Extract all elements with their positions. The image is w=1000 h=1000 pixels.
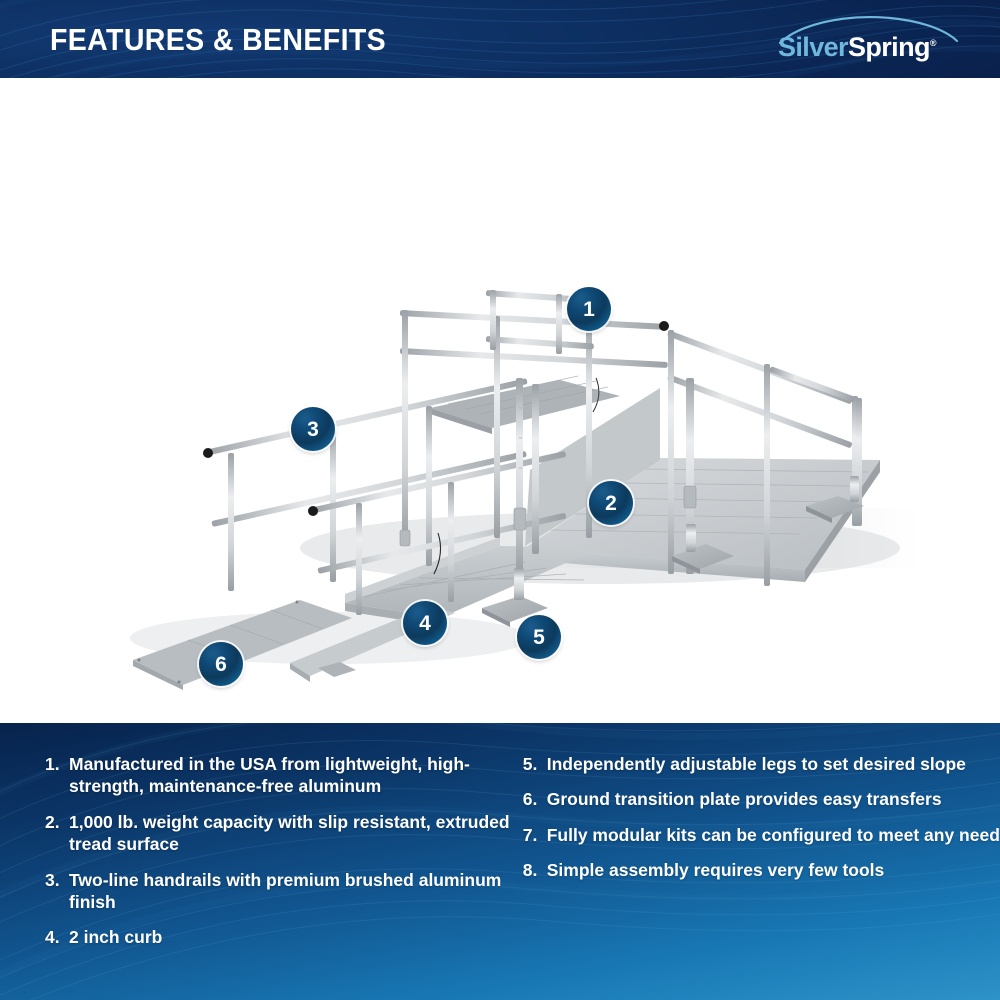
callout-badge-4-label: 4 (419, 613, 431, 634)
page-title: FEATURES & BENEFITS (50, 22, 386, 58)
feature-item-8-text: Simple assembly requires very few tools (547, 859, 1000, 881)
feature-item-8-number: 8. (523, 859, 547, 881)
features-columns: 1. Manufactured in the USA from lightwei… (0, 723, 1000, 1000)
feature-item-7-text: Fully modular kits can be configured to … (547, 824, 1000, 846)
feature-item-7-number: 7. (523, 824, 547, 846)
feature-item-3-number: 3. (45, 869, 69, 914)
callout-badge-2[interactable]: 2 (589, 481, 633, 525)
feature-item-1: 1. Manufactured in the USA from lightwei… (45, 753, 513, 798)
features-column-left: 1. Manufactured in the USA from lightwei… (0, 723, 513, 1000)
feature-item-3: 3. Two-line handrails with premium brush… (45, 869, 513, 914)
callout-badge-2-label: 2 (605, 493, 617, 514)
feature-item-5-text: Independently adjustable legs to set des… (547, 753, 1000, 775)
feature-item-1-text: Manufactured in the USA from lightweight… (69, 753, 513, 798)
feature-item-3-text: Two-line handrails with premium brushed … (69, 869, 513, 914)
callout-badge-5-label: 5 (533, 627, 545, 648)
callout-badge-6[interactable]: 6 (199, 642, 243, 686)
feature-item-4-text: 2 inch curb (69, 926, 513, 948)
callout-badge-5[interactable]: 5 (517, 615, 561, 659)
callout-badge-4[interactable]: 4 (403, 601, 447, 645)
features-panel: 1. Manufactured in the USA from lightwei… (0, 723, 1000, 1000)
features-benefits-infographic: FEATURES & BENEFITS SilverSpring® (0, 0, 1000, 1000)
feature-item-8: 8. Simple assembly requires very few too… (523, 859, 1000, 881)
feature-item-6-number: 6. (523, 788, 547, 810)
feature-item-6-text: Ground transition plate provides easy tr… (547, 788, 1000, 810)
feature-item-4: 4. 2 inch curb (45, 926, 513, 948)
feature-item-7: 7. Fully modular kits can be configured … (523, 824, 1000, 846)
callout-badge-6-label: 6 (215, 654, 227, 675)
logo-registered-mark: ® (930, 38, 936, 48)
feature-item-2-number: 2. (45, 811, 69, 856)
callout-badge-3-label: 3 (307, 419, 319, 440)
features-column-right: 5. Independently adjustable legs to set … (513, 723, 1000, 1000)
logo-text-silver: Silver (778, 32, 848, 62)
callout-badge-1[interactable]: 1 (567, 287, 611, 331)
logo-text-spring: Spring (848, 32, 930, 62)
logo-wordmark: SilverSpring® (778, 32, 936, 63)
callout-badge-1-label: 1 (583, 299, 595, 320)
feature-item-2: 2. 1,000 lb. weight capacity with slip r… (45, 811, 513, 856)
feature-item-5-number: 5. (523, 753, 547, 775)
feature-item-1-number: 1. (45, 753, 69, 798)
header-bar: FEATURES & BENEFITS SilverSpring® (0, 0, 1000, 78)
product-render-area: 1 2 3 4 5 6 (0, 78, 1000, 723)
feature-item-5: 5. Independently adjustable legs to set … (523, 753, 1000, 775)
silver-spring-logo[interactable]: SilverSpring® (760, 14, 960, 66)
feature-item-6: 6. Ground transition plate provides easy… (523, 788, 1000, 810)
ramp-3d-render (0, 78, 1000, 723)
callout-badge-3[interactable]: 3 (291, 407, 335, 451)
feature-item-2-text: 1,000 lb. weight capacity with slip resi… (69, 811, 513, 856)
feature-item-4-number: 4. (45, 926, 69, 948)
